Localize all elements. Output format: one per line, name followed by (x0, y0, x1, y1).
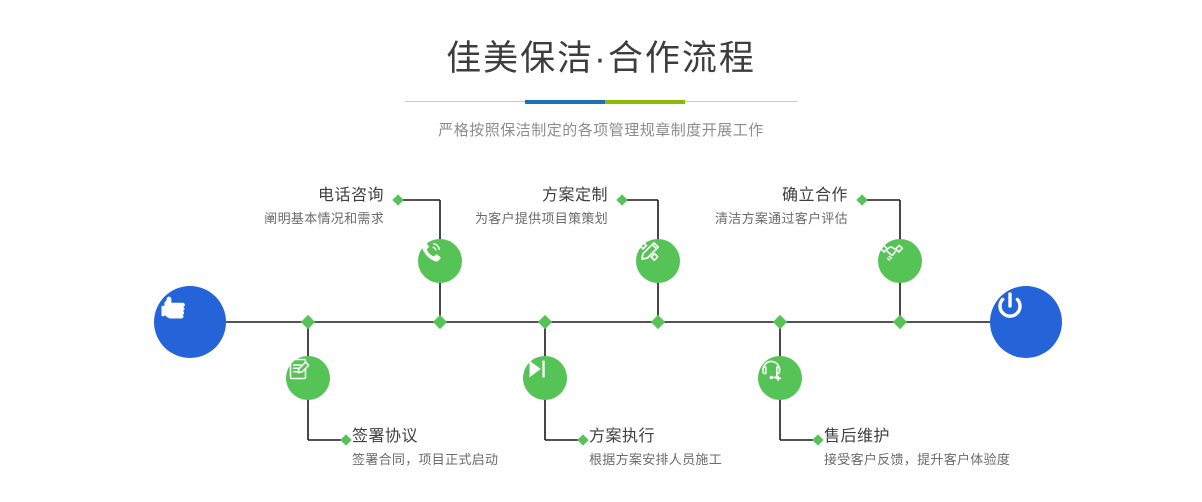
process-flow-diagram: 电话咨询 阐明基本情况和需求 方案定制 为客户提供项目策策划 确立合作 清洁方案… (0, 0, 1202, 502)
step-title: 签署协议 (352, 427, 498, 447)
step-desc: 阐明基本情况和需求 (264, 209, 384, 229)
step-desc: 根据方案安排人员施工 (589, 450, 722, 470)
step-label-sign-agreement: 签署协议 签署合同，项目正式启动 (352, 427, 498, 470)
step-label-plan-execute: 方案执行 根据方案安排人员施工 (589, 427, 722, 470)
step-label-plan-design: 方案定制 为客户提供项目策策划 (475, 186, 608, 229)
step-node-sign-agreement[interactable] (286, 356, 330, 400)
step-title: 电话咨询 (264, 186, 384, 206)
timeline-diamond-b2 (538, 315, 552, 329)
step-desc: 清洁方案通过客户评估 (715, 209, 848, 229)
step-node-plan-design[interactable] (636, 239, 680, 283)
timeline-diamond-t1 (433, 315, 447, 329)
step-node-plan-execute[interactable] (523, 356, 567, 400)
timeline-diamond-t3 (893, 315, 907, 329)
label-diamonds (340, 194, 867, 445)
timeline-diamond-b1 (301, 315, 315, 329)
label-diamond-t1 (392, 194, 403, 205)
step-title: 确立合作 (715, 186, 848, 206)
step-node-phone-consult[interactable] (418, 239, 462, 283)
flow-end-node[interactable] (990, 286, 1062, 358)
label-diamond-t2 (616, 194, 627, 205)
flow-start-node[interactable] (154, 286, 226, 358)
label-diamond-b1 (340, 434, 351, 445)
label-diamond-b2 (577, 434, 588, 445)
timeline-diamond-t2 (651, 315, 665, 329)
label-diamond-b3 (812, 434, 823, 445)
step-node-after-sales[interactable] (758, 356, 802, 400)
step-desc: 为客户提供项目策策划 (475, 209, 608, 229)
step-label-after-sales: 售后维护 接受客户反馈，提升客户体验度 (824, 427, 1010, 470)
step-label-phone-consult: 电话咨询 阐明基本情况和需求 (264, 186, 384, 229)
step-title: 方案执行 (589, 427, 722, 447)
step-title: 售后维护 (824, 427, 1010, 447)
step-desc: 签署合同，项目正式启动 (352, 450, 498, 470)
step-node-confirm-cooperation[interactable] (878, 239, 922, 283)
step-desc: 接受客户反馈，提升客户体验度 (824, 450, 1010, 470)
step-label-confirm-cooperation: 确立合作 清洁方案通过客户评估 (715, 186, 848, 229)
step-title: 方案定制 (475, 186, 608, 206)
timeline-diamond-b3 (773, 315, 787, 329)
label-diamond-t3 (856, 194, 867, 205)
